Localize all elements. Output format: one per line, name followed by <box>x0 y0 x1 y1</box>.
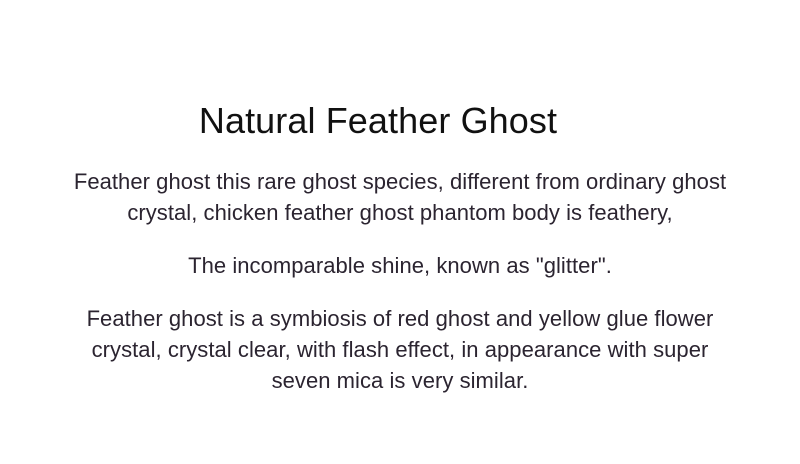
body-paragraph-1: Feather ghost this rare ghost species, d… <box>64 166 736 228</box>
body-paragraph-3: Feather ghost is a symbiosis of red ghos… <box>64 303 736 396</box>
slide-canvas: Natural Feather Ghost Feather ghost this… <box>0 0 800 464</box>
page-title: Natural Feather Ghost <box>0 98 800 144</box>
body-paragraph-2: The incomparable shine, known as "glitte… <box>64 250 736 281</box>
slide-body: Feather ghost this rare ghost species, d… <box>64 166 736 396</box>
